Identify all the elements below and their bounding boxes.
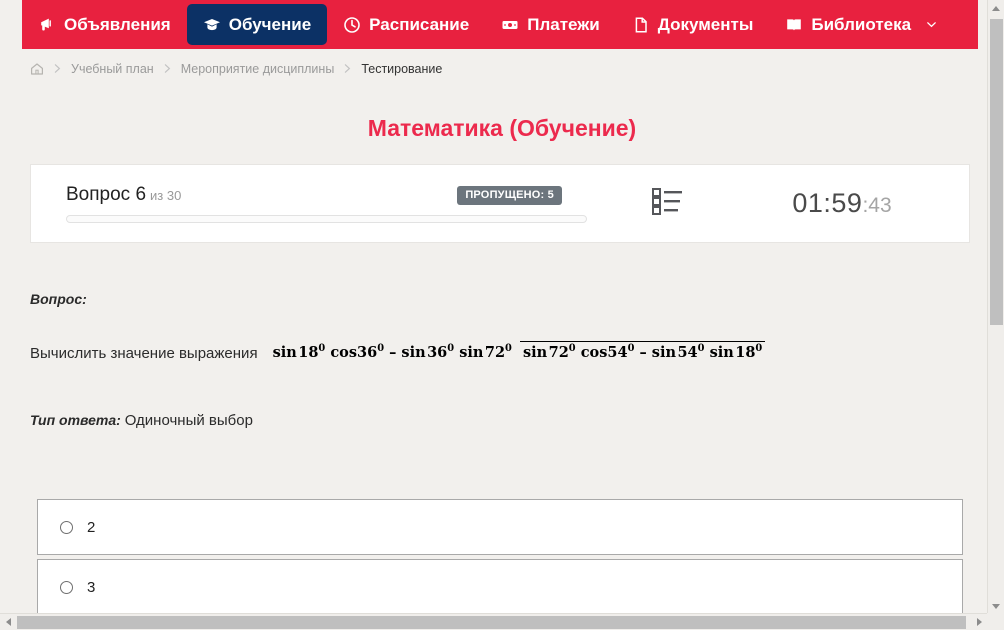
nav-label-documents: Документы — [658, 15, 754, 35]
status-badge-skipped: ПРОПУЩЕНО: 5 — [457, 186, 562, 205]
radio-button-icon[interactable] — [60, 581, 73, 594]
question-list-button[interactable] — [607, 187, 727, 221]
book-icon — [785, 16, 803, 34]
timer-seconds: :43 — [862, 194, 891, 218]
answer-option-label: 2 — [87, 519, 95, 536]
formula-denominator: sin 720 cos540 – sin 540 sin 180 — [520, 341, 765, 361]
question-progress-section: Вопрос 6из 30 ПРОПУЩЕНО: 5 — [31, 184, 607, 223]
breadcrumb-separator — [163, 63, 172, 76]
breadcrumb-item-testing: Тестирование — [361, 62, 442, 76]
page-title: Математика (Обучение) — [0, 115, 1004, 142]
question-section-label: Вопрос: — [30, 291, 87, 307]
answer-option-label: 3 — [87, 579, 95, 596]
vertical-scrollbar-thumb[interactable] — [990, 19, 1003, 325]
nav-item-documents[interactable]: Документы — [616, 4, 770, 45]
question-formula: sin 180 cos360 – sin 360 sin 720 sin 720… — [270, 344, 766, 361]
vertical-scrollbar[interactable] — [987, 0, 1004, 614]
scroll-up-arrow-icon[interactable] — [988, 0, 1004, 16]
graduation-cap-icon — [203, 16, 221, 34]
nav-label-schedule: Расписание — [369, 15, 469, 35]
nav-item-education[interactable]: Обучение — [187, 4, 327, 45]
answer-type-label: Тип ответа: — [30, 412, 121, 428]
timer: 01:59:43 — [727, 188, 977, 219]
horizontal-scrollbar[interactable] — [0, 613, 1004, 630]
scroll-down-arrow-icon[interactable] — [988, 598, 1004, 614]
scroll-left-arrow-icon[interactable] — [0, 614, 16, 630]
scroll-right-arrow-icon[interactable] — [971, 614, 987, 630]
question-counter: Вопрос 6из 30 — [66, 184, 181, 206]
app-viewport: Объявления Обучение Расписание — [0, 0, 1004, 630]
breadcrumb-separator — [53, 63, 62, 76]
question-total-text: из 30 — [150, 188, 181, 203]
nav-item-announcements[interactable]: Объявления — [22, 4, 187, 45]
list-icon[interactable] — [652, 187, 683, 221]
breadcrumb-separator — [343, 63, 352, 76]
radio-button-icon[interactable] — [60, 521, 73, 534]
question-counter-text: Вопрос 6 — [66, 184, 146, 205]
chevron-down-icon[interactable] — [926, 19, 937, 30]
nav-item-library[interactable]: Библиотека — [769, 4, 953, 45]
megaphone-icon — [38, 16, 56, 34]
answer-option-1[interactable]: 2 — [37, 499, 963, 555]
breadcrumb-item-curriculum[interactable]: Учебный план — [71, 62, 154, 76]
document-icon — [632, 16, 650, 34]
nav-item-payments[interactable]: Платежи — [485, 4, 616, 45]
answer-type-value: Одиночный выбор — [125, 412, 253, 429]
nav-label-education: Обучение — [229, 15, 311, 35]
timer-main: 01:59 — [792, 188, 862, 219]
main-navigation: Объявления Обучение Расписание — [22, 0, 978, 49]
formula-numerator: sin 180 cos360 – sin 360 sin 720 — [270, 344, 520, 362]
nav-label-announcements: Объявления — [64, 15, 171, 35]
answer-options: 2 3 — [37, 499, 963, 619]
question-prompt-row: Вычислить значение выражения sin 180 cos… — [30, 345, 765, 362]
clock-icon — [343, 16, 361, 34]
breadcrumb-item-discipline-event[interactable]: Мероприятие дисциплины — [181, 62, 335, 76]
nav-label-library: Библиотека — [811, 15, 911, 35]
answer-option-2[interactable]: 3 — [37, 559, 963, 615]
nav-item-schedule[interactable]: Расписание — [327, 4, 485, 45]
nav-label-payments: Платежи — [527, 15, 600, 35]
question-prompt-text: Вычислить значение выражения — [30, 345, 258, 362]
banknote-icon — [501, 16, 519, 34]
question-header-card: Вопрос 6из 30 ПРОПУЩЕНО: 5 — [30, 164, 970, 243]
question-progress-bar — [66, 215, 587, 223]
home-icon[interactable] — [30, 62, 44, 76]
horizontal-scrollbar-thumb[interactable] — [17, 616, 966, 629]
breadcrumb: Учебный план Мероприятие дисциплины Тест… — [30, 62, 442, 76]
answer-type-row: Тип ответа: Одиночный выбор — [30, 412, 253, 429]
scrollbar-corner — [987, 613, 1004, 630]
